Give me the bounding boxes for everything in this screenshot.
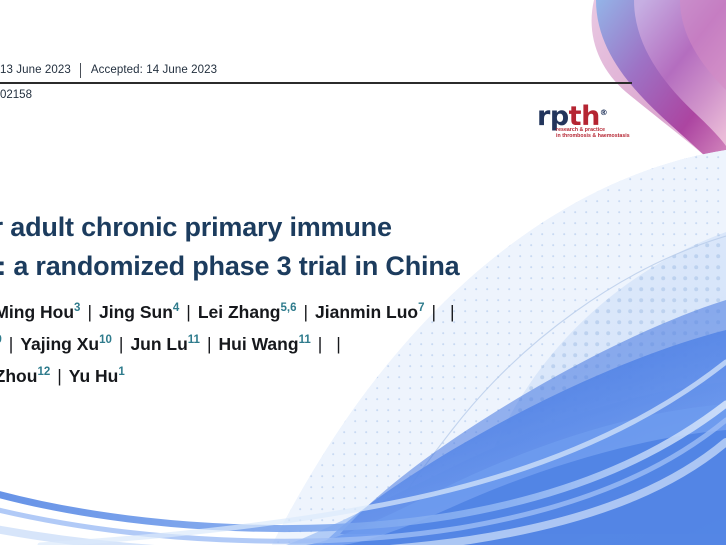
author-separator: |	[329, 334, 348, 354]
article-history: 13 June 2023 Accepted: 14 June 2023	[0, 61, 217, 79]
author-separator: |	[2, 334, 21, 354]
header-horizontal-rule	[0, 82, 632, 84]
rpth-journal-logo: rpth® research & practice in thrombosis …	[537, 99, 637, 141]
paper-first-page: 13 June 2023 Accepted: 14 June 2023 0215…	[0, 0, 726, 545]
article-title-line-1: g for adult chronic primary immune	[0, 208, 564, 247]
purple-swoosh-graphic	[592, 0, 726, 176]
registered-trademark-icon: ®	[600, 108, 608, 117]
author-separator: |	[112, 334, 131, 354]
author-affiliation-marker: 7	[418, 302, 424, 314]
author-line-1: ou2|Ming Hou3|Jing Sun4|Lei Zhang5,6|Jia…	[0, 296, 648, 328]
logo-tagline-line2: in thrombosis & haemostasis	[556, 133, 636, 139]
history-divider	[80, 63, 81, 78]
author-name: Jing Sun	[99, 302, 173, 322]
author-name: Yu Hu	[69, 366, 119, 386]
author-name: Hui Wang	[219, 334, 299, 354]
logo-wordmark: rpth®	[537, 99, 637, 130]
author-list: ou2|Ming Hou3|Jing Sun4|Lei Zhang5,6|Jia…	[0, 296, 648, 392]
author-name: Ming Hou	[0, 302, 74, 322]
article-title-line-2: enia: a randomized phase 3 trial in Chin…	[0, 247, 564, 286]
author-separator: |	[443, 302, 462, 322]
article-title: g for adult chronic primary immune enia:…	[0, 208, 564, 286]
author-separator: |	[200, 334, 219, 354]
author-affiliation-marker: 12	[37, 366, 50, 378]
author-name: Yajing Xu	[20, 334, 99, 354]
author-affiliation-marker: 10	[99, 334, 112, 346]
author-separator: |	[50, 366, 69, 386]
author-name: Jianmin Luo	[315, 302, 418, 322]
author-separator: |	[296, 302, 315, 322]
author-name: Jun Lu	[130, 334, 187, 354]
author-name: Lei Zhang	[198, 302, 281, 322]
author-separator: |	[311, 334, 330, 354]
author-line-2: Xu Ye9|Yajing Xu10|Jun Lu11|Hui Wang11||	[0, 328, 648, 360]
author-line-3: chun Zhou12|Yu Hu1	[0, 360, 648, 392]
author-affiliation-marker: 5,6	[280, 302, 296, 314]
doi-fragment: 02158	[0, 89, 32, 101]
logo-tagline: research & practice in thrombosis & haem…	[556, 127, 636, 139]
author-affiliation-marker: 11	[299, 334, 311, 346]
author-separator: |	[425, 302, 444, 322]
author-separator: |	[179, 302, 198, 322]
author-name: chun Zhou	[0, 366, 37, 386]
author-affiliation-marker: 11	[188, 334, 200, 346]
author-affiliation-marker: 1	[118, 366, 124, 378]
author-separator: |	[80, 302, 99, 322]
received-date: 13 June 2023	[0, 64, 80, 76]
accepted-date: Accepted: 14 June 2023	[91, 64, 217, 76]
